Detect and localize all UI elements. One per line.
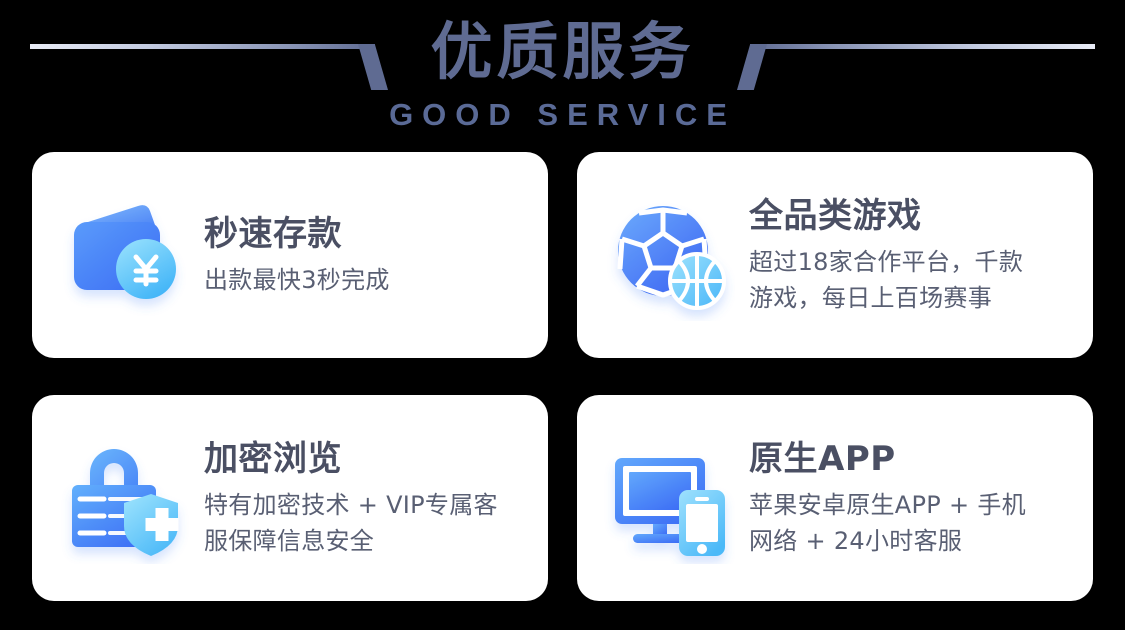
card-text-block: 加密浏览 特有加密技术 + VIP专属客 服保障信息安全 bbox=[204, 437, 526, 559]
card-title: 全品类游戏 bbox=[749, 194, 1071, 238]
monitor-phone-icon bbox=[603, 432, 735, 564]
page-header: 优质服务 GOOD SERVICE bbox=[0, 0, 1125, 140]
card-description: 特有加密技术 + VIP专属客 服保障信息安全 bbox=[204, 487, 526, 559]
card-description-line2: 网络 + 24小时客服 bbox=[749, 523, 1071, 559]
card-description-line1: 特有加密技术 + VIP专属客 bbox=[204, 487, 526, 523]
page-subtitle: GOOD SERVICE bbox=[0, 98, 1125, 132]
card-description: 出款最快3秒完成 bbox=[204, 262, 526, 298]
soccer-basketball-icon bbox=[603, 189, 735, 321]
feature-card-games[interactable]: 全品类游戏 超过18家合作平台，千款 游戏，每日上百场赛事 bbox=[577, 152, 1093, 358]
card-description-line2: 服保障信息安全 bbox=[204, 523, 526, 559]
feature-card-encryption[interactable]: 加密浏览 特有加密技术 + VIP专属客 服保障信息安全 bbox=[32, 395, 548, 601]
page-title: 优质服务 bbox=[0, 0, 1125, 98]
card-text-block: 原生APP 苹果安卓原生APP + 手机 网络 + 24小时客服 bbox=[749, 437, 1071, 559]
card-description-line2: 游戏，每日上百场赛事 bbox=[749, 280, 1071, 316]
card-description-line1: 超过18家合作平台，千款 bbox=[749, 244, 1071, 280]
card-description-line1: 出款最快3秒完成 bbox=[204, 266, 390, 294]
lock-shield-icon bbox=[58, 432, 190, 564]
feature-card-native-app[interactable]: 原生APP 苹果安卓原生APP + 手机 网络 + 24小时客服 bbox=[577, 395, 1093, 601]
card-title: 秒速存款 bbox=[204, 212, 526, 256]
card-description-line1: 苹果安卓原生APP + 手机 bbox=[749, 487, 1071, 523]
card-description: 苹果安卓原生APP + 手机 网络 + 24小时客服 bbox=[749, 487, 1071, 559]
feature-card-deposit[interactable]: 秒速存款 出款最快3秒完成 bbox=[32, 152, 548, 358]
card-title: 加密浏览 bbox=[204, 437, 526, 481]
card-text-block: 秒速存款 出款最快3秒完成 bbox=[204, 212, 526, 298]
card-title: 原生APP bbox=[749, 437, 1071, 481]
card-description: 超过18家合作平台，千款 游戏，每日上百场赛事 bbox=[749, 244, 1071, 316]
wallet-yen-icon bbox=[58, 189, 190, 321]
card-text-block: 全品类游戏 超过18家合作平台，千款 游戏，每日上百场赛事 bbox=[749, 194, 1071, 316]
header-title-block: 优质服务 GOOD SERVICE bbox=[0, 0, 1125, 132]
feature-card-grid: 秒速存款 出款最快3秒完成 bbox=[32, 152, 1093, 601]
